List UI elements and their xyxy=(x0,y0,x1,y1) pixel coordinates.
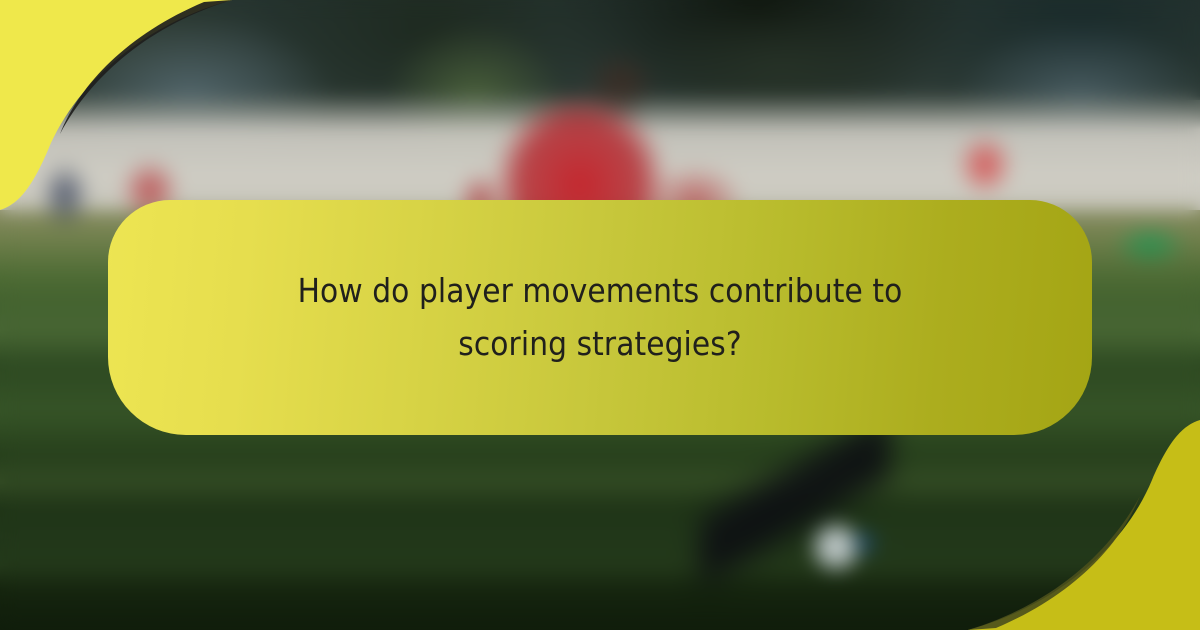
question-text: How do player movements contribute to sc… xyxy=(210,265,990,369)
social-card-canvas: How do player movements contribute to sc… xyxy=(0,0,1200,630)
question-card: How do player movements contribute to sc… xyxy=(108,200,1092,435)
